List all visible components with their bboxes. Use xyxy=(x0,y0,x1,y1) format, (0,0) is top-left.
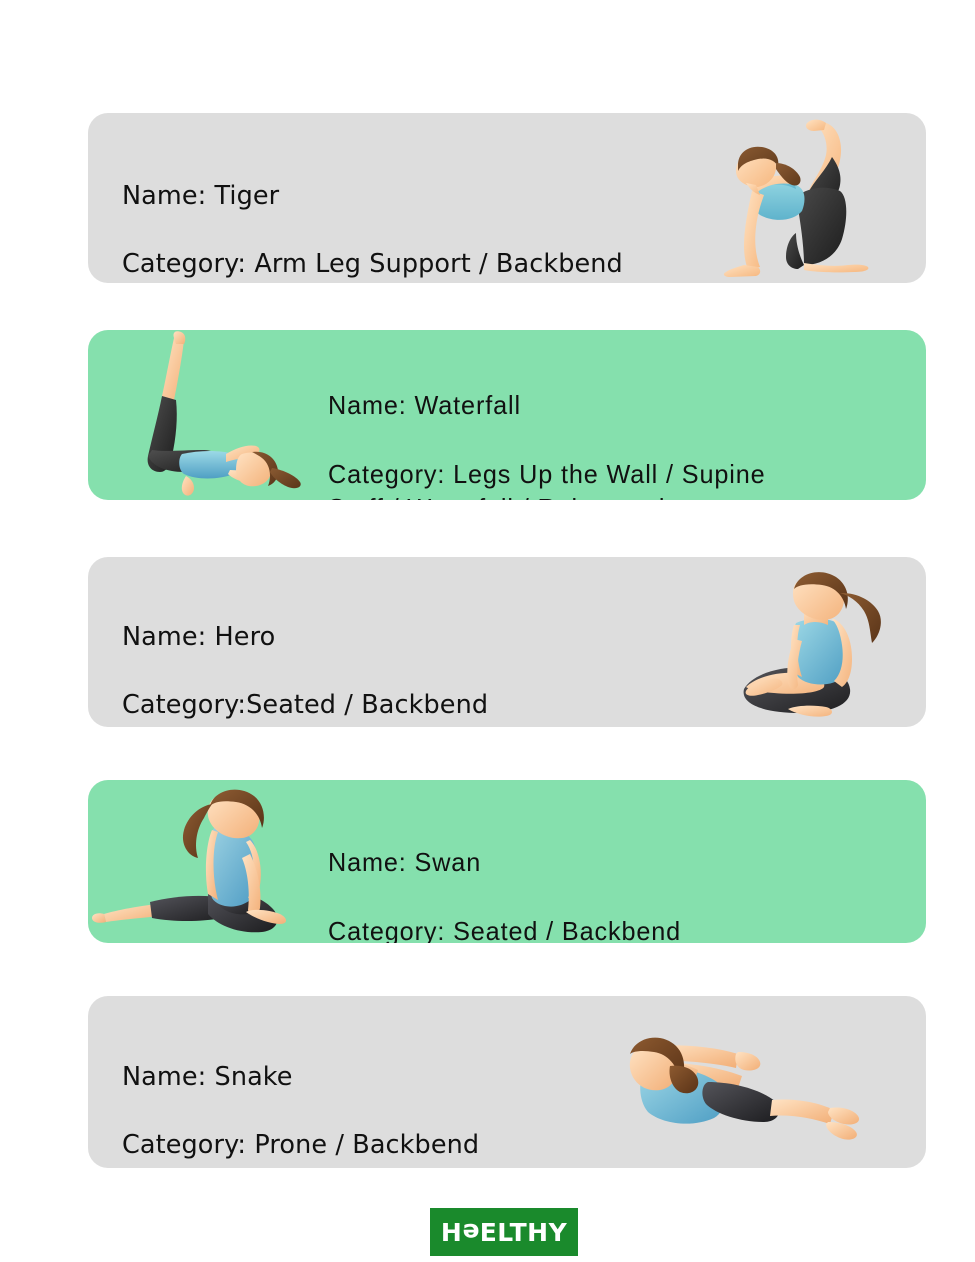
pose-name-line: Name: Hero xyxy=(122,621,488,655)
snake-pose-illustration xyxy=(616,1024,866,1152)
logo-letters-elthy: ELTHY xyxy=(480,1220,567,1245)
page-root: Name: Tiger Category: Arm Leg Support / … xyxy=(0,0,975,1262)
waterfall-pose-illustration xyxy=(126,330,306,500)
pose-card-snake[interactable]: Name: Snake Category: Prone / Backbend D… xyxy=(88,996,926,1168)
pose-card-waterfall[interactable]: Name: Waterfall Category: Legs Up the Wa… xyxy=(88,330,926,500)
pose-category-line: Category: Seated / Backbend xyxy=(328,914,681,943)
pose-card-hero[interactable]: Name: Hero Category:Seated / Backbend Di… xyxy=(88,557,926,727)
logo-letter-h: H xyxy=(441,1220,462,1245)
pose-category-line: Category: Prone / Backbend xyxy=(122,1129,479,1163)
healthy-logo[interactable]: HeELTHY xyxy=(430,1208,578,1256)
pose-card-swan[interactable]: Name: Swan Category: Seated / Backbend D… xyxy=(88,780,926,943)
pose-category-line: Category: Arm Leg Support / Backbend xyxy=(122,248,623,282)
healthy-wordmark: HeELTHY xyxy=(441,1220,567,1245)
pose-card-text: Name: Waterfall Category: Legs Up the Wa… xyxy=(328,353,766,500)
pose-name-line: Name: Waterfall xyxy=(328,388,766,423)
hero-pose-illustration xyxy=(738,563,908,725)
pose-card-text: Name: Tiger Category: Arm Leg Support / … xyxy=(122,146,623,283)
pose-card-text: Name: Snake Category: Prone / Backbend D… xyxy=(122,1027,479,1168)
pose-card-text: Name: Hero Category:Seated / Backbend Di… xyxy=(122,587,488,727)
pose-category-line: Category:Seated / Backbend xyxy=(122,689,488,723)
swan-pose-illustration xyxy=(90,788,312,940)
tiger-pose-illustration xyxy=(708,115,918,280)
pose-category-line: Category: Legs Up the Wall / Supine Staf… xyxy=(328,457,766,500)
pose-card-tiger[interactable]: Name: Tiger Category: Arm Leg Support / … xyxy=(88,113,926,283)
pose-card-text: Name: Swan Category: Seated / Backbend D… xyxy=(328,810,681,943)
pose-name-line: Name: Snake xyxy=(122,1061,479,1095)
pose-name-line: Name: Swan xyxy=(328,845,681,880)
pose-name-line: Name: Tiger xyxy=(122,180,623,214)
logo-letter-a-rotated: e xyxy=(462,1220,479,1245)
